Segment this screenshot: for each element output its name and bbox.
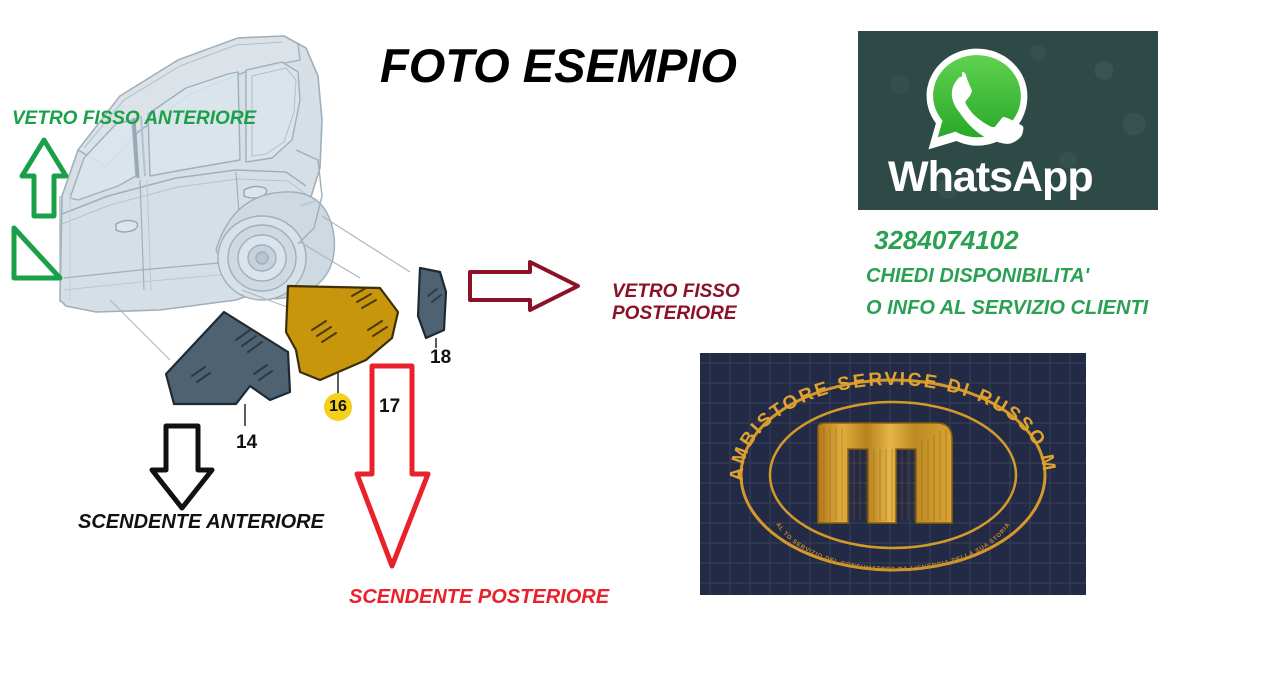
part-number-18: 18 bbox=[430, 347, 451, 369]
whatsapp-banner[interactable]: WhatsApp bbox=[858, 31, 1158, 210]
contact-customer-service-text: O INFO AL SERVIZIO CLIENTI bbox=[866, 297, 1148, 320]
label-scendente-anteriore: SCENDENTE ANTERIORE bbox=[78, 511, 324, 534]
contact-availability-text: CHIEDI DISPONIBILITA' bbox=[866, 265, 1089, 288]
label-vetro-fisso-posteriore-line2: POSTERIORE bbox=[612, 303, 740, 325]
arrow-down-icon-front bbox=[152, 426, 212, 508]
whatsapp-wordmark: WhatsApp bbox=[888, 153, 1138, 202]
part-front-door-glass bbox=[166, 312, 290, 426]
example-photo-diagram-page: 14 16 17 18 FOTO ESEMPIO VETRO FISSO ANT… bbox=[0, 0, 1264, 678]
label-vetro-fisso-anteriore: VETRO FISSO ANTERIORE bbox=[12, 108, 256, 130]
label-scendente-posteriore: SCENDENTE POSTERIORE bbox=[349, 586, 609, 609]
page-title: FOTO ESEMPIO bbox=[380, 38, 737, 93]
whatsapp-icon bbox=[921, 43, 1033, 155]
shop-logo: MRICAMBISTORE SERVICE DI RUSSO MARCO AL … bbox=[700, 353, 1086, 595]
part-number-17: 17 bbox=[379, 396, 400, 418]
phone-number[interactable]: 3284074102 bbox=[874, 225, 1019, 256]
part-quarter-fixed-glass bbox=[418, 268, 446, 348]
shop-logo-monogram bbox=[818, 423, 952, 523]
car-illustration bbox=[60, 36, 334, 312]
triangle-icon bbox=[14, 228, 60, 278]
shop-logo-graphic: MRICAMBISTORE SERVICE DI RUSSO MARCO AL … bbox=[700, 353, 1086, 595]
part-number-14: 14 bbox=[236, 432, 257, 454]
part-number-16-badge: 16 bbox=[324, 393, 352, 421]
arrow-right-icon bbox=[470, 262, 578, 310]
car-glass-exploded-diagram bbox=[0, 0, 700, 640]
label-vetro-fisso-posteriore: VETRO FISSO POSTERIORE bbox=[612, 281, 740, 325]
label-vetro-fisso-posteriore-line1: VETRO FISSO bbox=[612, 281, 740, 303]
